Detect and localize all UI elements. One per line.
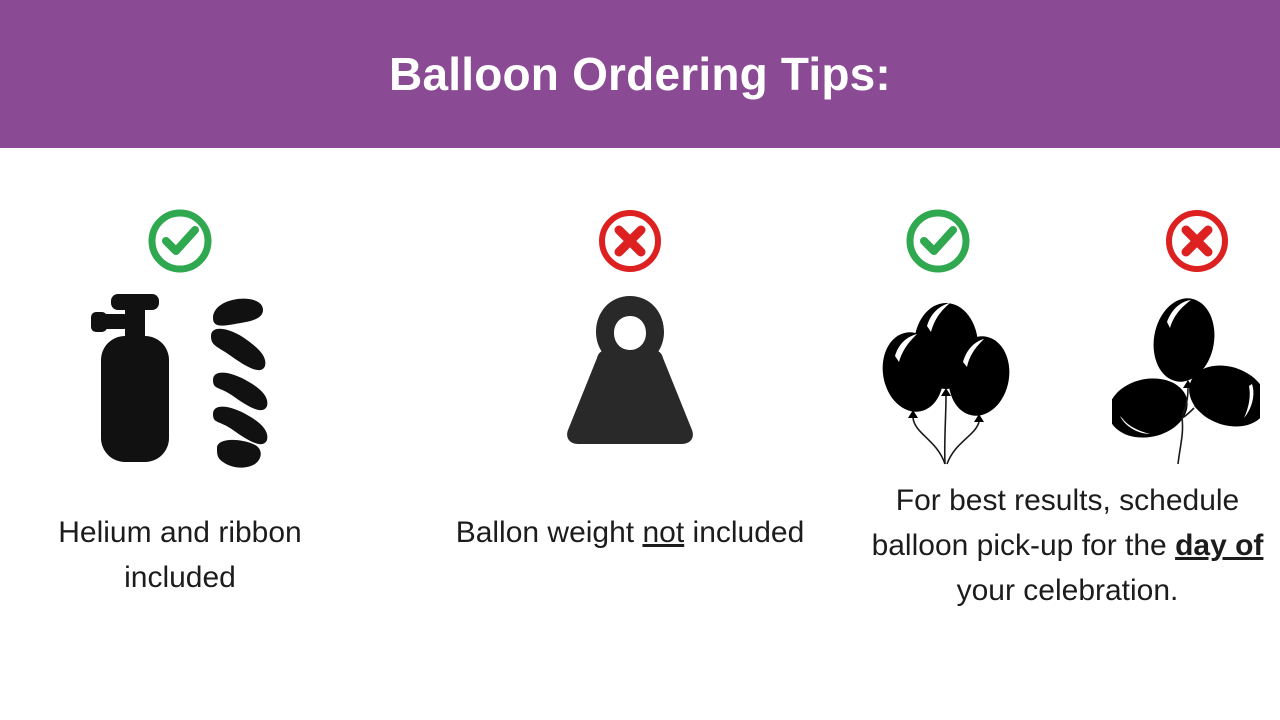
red-cross-icon bbox=[595, 206, 665, 276]
red-cross-icon bbox=[1162, 206, 1232, 276]
caption-suffix: included bbox=[684, 516, 804, 549]
illustration-row bbox=[0, 288, 360, 470]
helium-tank-icon bbox=[83, 288, 187, 468]
curled-ribbon-icon bbox=[201, 288, 277, 470]
tip-column-balloon-weight: Ballon weight not included bbox=[430, 148, 830, 720]
status-marks-row bbox=[0, 206, 360, 276]
page-title: Balloon Ordering Tips: bbox=[389, 51, 891, 97]
green-check-icon bbox=[145, 206, 215, 276]
caption-suffix: your celebration. bbox=[957, 574, 1179, 607]
tip-column-pickup-timing: For best results, schedule balloon pick-… bbox=[855, 148, 1280, 720]
status-marks-row bbox=[855, 206, 1280, 276]
header-banner: Balloon Ordering Tips: bbox=[0, 0, 1280, 148]
illustration-row bbox=[855, 288, 1280, 466]
balloons-deflated-icon bbox=[1112, 288, 1260, 466]
caption-line-2: included bbox=[124, 561, 236, 594]
illustration-row bbox=[430, 288, 830, 448]
caption-emphasis-not: not bbox=[642, 516, 684, 549]
caption-line-1: Helium and ribbon bbox=[58, 516, 301, 549]
green-check-icon bbox=[903, 206, 973, 276]
slide-root: Balloon Ordering Tips: bbox=[0, 0, 1280, 720]
caption-prefix: Ballon weight bbox=[456, 516, 643, 549]
tip-column-helium-ribbon: Helium and ribbon included bbox=[0, 148, 360, 720]
caption-emphasis-day-of: day of bbox=[1175, 529, 1263, 562]
balloons-inflated-icon bbox=[875, 288, 1017, 466]
tip-caption-helium-ribbon: Helium and ribbon included bbox=[0, 510, 360, 600]
balloon-weight-icon bbox=[544, 288, 716, 448]
tip-caption-pickup-timing: For best results, schedule balloon pick-… bbox=[855, 478, 1280, 613]
tips-content: Helium and ribbon included bbox=[0, 148, 1280, 720]
tip-caption-balloon-weight: Ballon weight not included bbox=[430, 510, 830, 555]
status-marks-row bbox=[430, 206, 830, 276]
